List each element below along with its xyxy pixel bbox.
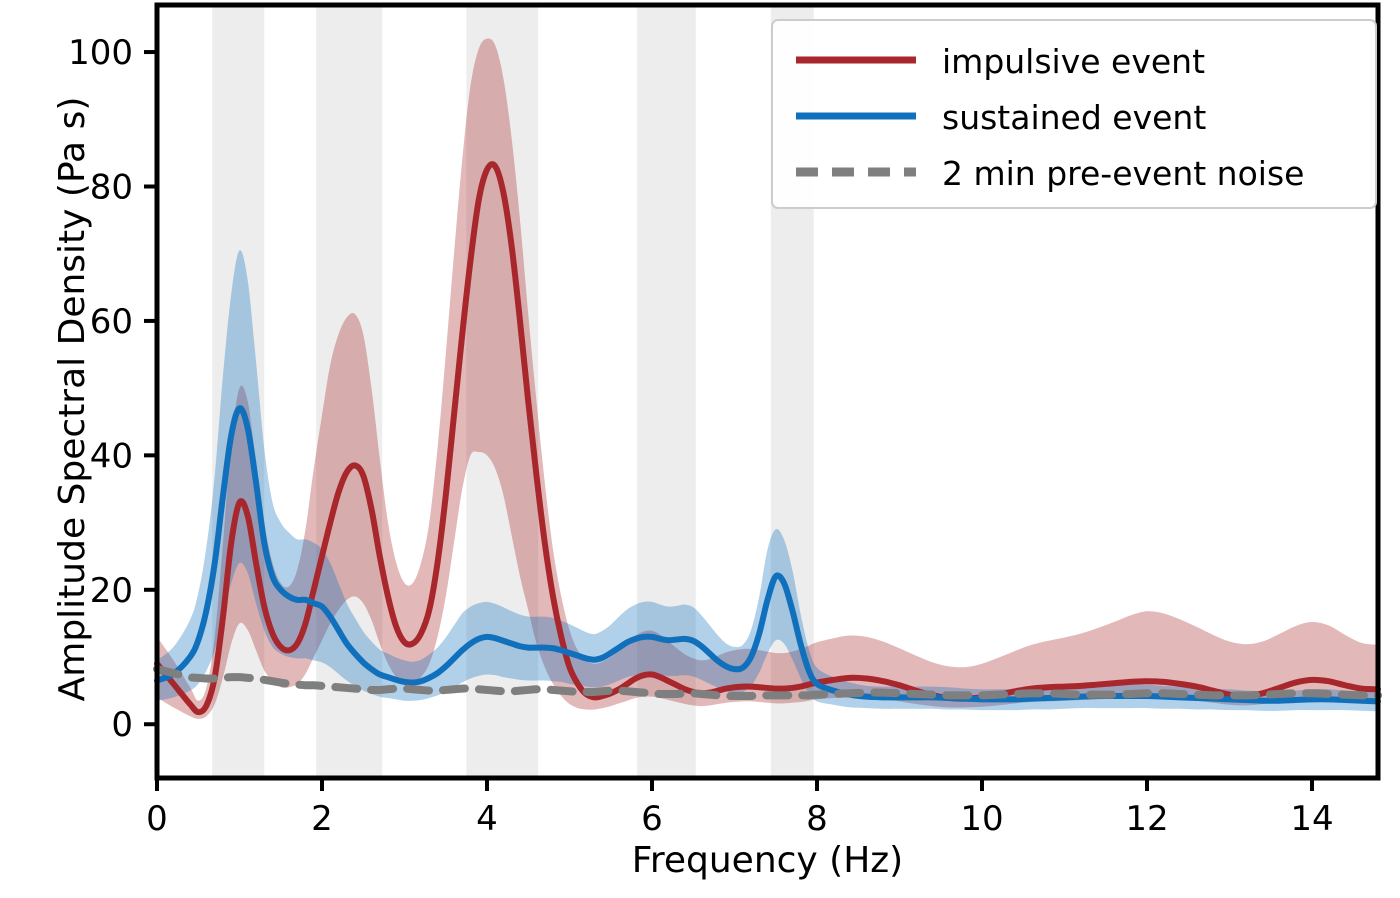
legend[interactable]: impulsive eventsustained event2 min pre-…	[770, 18, 1378, 210]
y-tick-label: 20	[90, 571, 133, 611]
x-axis-label: Frequency (Hz)	[157, 840, 1378, 881]
y-tick-label: 0	[111, 705, 133, 745]
y-tick-label: 60	[90, 302, 133, 342]
x-tick-label: 10	[960, 799, 1003, 839]
legend-label-2: 2 min pre-event noise	[942, 154, 1304, 193]
legend-label-1: sustained event	[942, 98, 1206, 137]
y-tick-label: 100	[68, 33, 133, 73]
x-tick-label: 6	[641, 799, 663, 839]
y-axis-ticks: 020406080100	[68, 33, 157, 745]
x-axis-ticks: 02468101214	[146, 778, 1333, 839]
x-tick-label: 12	[1125, 799, 1168, 839]
x-tick-label: 4	[476, 799, 498, 839]
x-axis-label-text: Frequency (Hz)	[632, 840, 903, 881]
y-tick-label: 40	[90, 436, 133, 476]
legend-label-0: impulsive event	[942, 42, 1205, 81]
x-tick-label: 14	[1290, 799, 1333, 839]
y-tick-label: 80	[90, 167, 133, 207]
x-tick-label: 8	[806, 799, 828, 839]
chart-figure: 020406080100 02468101214 Amplitude Spect…	[0, 0, 1400, 898]
x-tick-label: 2	[311, 799, 333, 839]
x-tick-label: 0	[146, 799, 168, 839]
